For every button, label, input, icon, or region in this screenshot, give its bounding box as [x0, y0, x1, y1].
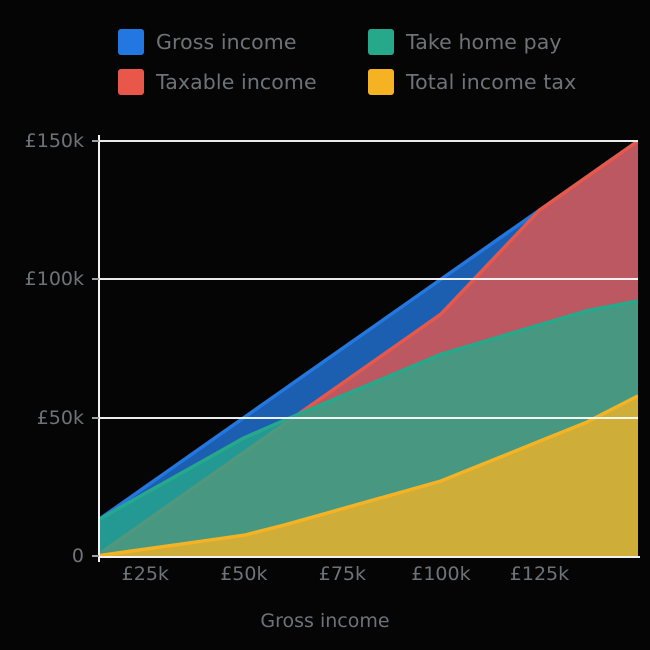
legend-swatch-gross-income [118, 29, 144, 55]
legend-item-gross-income[interactable]: Gross income [118, 29, 368, 55]
y-tick-label-50000: £50k [0, 407, 84, 429]
legend-label-gross-income: Gross income [156, 30, 297, 54]
x-tick-label-125000: £125k [479, 563, 599, 585]
y-tick-label-150000: £150k [0, 130, 84, 152]
legend-item-taxable-income[interactable]: Taxable income [118, 69, 368, 95]
legend-label-total-income-tax: Total income tax [406, 70, 576, 94]
chart-page: Gross income Take home pay Taxable incom… [0, 0, 650, 650]
legend-item-total-income-tax[interactable]: Total income tax [368, 69, 618, 95]
legend-label-taxable-income: Taxable income [156, 70, 317, 94]
chart-areas [100, 141, 638, 556]
x-axis-title: Gross income [0, 610, 650, 632]
y-axis-line [98, 135, 100, 562]
legend-swatch-taxable-income [118, 69, 144, 95]
legend-item-take-home-pay[interactable]: Take home pay [368, 29, 618, 55]
chart-legend: Gross income Take home pay Taxable incom… [118, 22, 618, 102]
x-tick-label-50000: £50k [184, 563, 304, 585]
x-tick-label-100000: £100k [381, 563, 501, 585]
legend-label-take-home-pay: Take home pay [406, 30, 562, 54]
legend-swatch-take-home-pay [368, 29, 394, 55]
y-tick-label-100000: £100k [0, 268, 84, 290]
legend-swatch-total-income-tax [368, 69, 394, 95]
x-tick-label-25000: £25k [85, 563, 205, 585]
plot-area [100, 141, 638, 556]
x-axis-line [98, 556, 640, 558]
x-tick-label-75000: £75k [282, 563, 402, 585]
y-tick-label-0: 0 [0, 545, 84, 567]
